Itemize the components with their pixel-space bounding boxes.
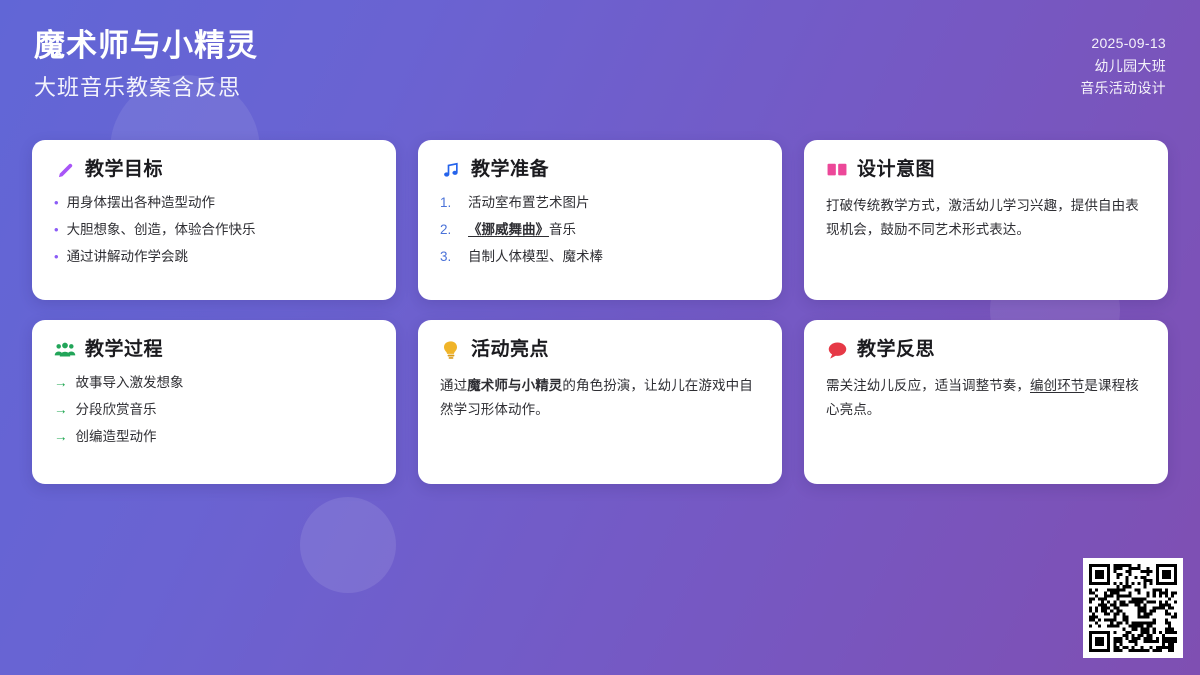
card-header: 教学目标: [54, 159, 374, 181]
bullet-marker: •: [54, 221, 59, 239]
card-title: 教学反思: [857, 340, 935, 361]
body-part-plain: 需关注幼儿反应，适当调整节奏，: [826, 378, 1030, 393]
card-header: 教学准备: [440, 159, 760, 181]
card-body-text: 需关注幼儿反应，适当调整节奏，编创环节是课程核心亮点。: [826, 374, 1146, 421]
card-header: 教学反思: [826, 339, 1146, 361]
list-item-label: 《挪威舞曲》音乐: [468, 221, 760, 239]
arrow-marker: →: [54, 401, 68, 419]
arrow-marker: →: [54, 428, 68, 446]
list-item-suffix: 音乐: [549, 222, 576, 237]
title-block: 魔术师与小精灵 大班音乐教案含反思: [34, 26, 258, 102]
list-item: • 大胆想象、创造，体验合作快乐: [54, 221, 374, 239]
card-teaching-process[interactable]: 教学过程 → 故事导入激发想象 → 分段欣赏音乐 → 创编造型动作: [32, 320, 396, 484]
list-item-label: 大胆想象、创造，体验合作快乐: [67, 221, 374, 239]
card-header: 设计意图: [826, 159, 1146, 181]
preparation-list: 1. 活动室布置艺术图片 2. 《挪威舞曲》音乐 3. 自制人体模型、魔术棒: [440, 194, 760, 267]
card-teaching-reflection[interactable]: 教学反思 需关注幼儿反应，适当调整节奏，编创环节是课程核心亮点。: [804, 320, 1168, 484]
body-part-underline: 编创环节: [1030, 378, 1084, 393]
body-part-bold: 魔术师与小精灵: [467, 378, 562, 393]
pencil-icon: [54, 159, 76, 181]
qr-code[interactable]: [1083, 558, 1183, 658]
card-activity-highlights[interactable]: 活动亮点 通过魔术师与小精灵的角色扮演，让幼儿在游戏中自然学习形体动作。: [418, 320, 782, 484]
card-body-text: 打破传统教学方式，激活幼儿学习兴趣，提供自由表现机会，鼓励不同艺术形式表达。: [826, 194, 1146, 241]
card-title: 设计意图: [857, 160, 935, 181]
card-body-text: 通过魔术师与小精灵的角色扮演，让幼儿在游戏中自然学习形体动作。: [440, 374, 760, 421]
qr-code-canvas: [1089, 564, 1177, 652]
process-list: → 故事导入激发想象 → 分段欣赏音乐 → 创编造型动作: [54, 374, 374, 447]
bullet-marker: •: [54, 194, 59, 212]
list-item: → 创编造型动作: [54, 428, 374, 446]
list-item-label: 分段欣赏音乐: [76, 401, 375, 419]
slide-header: 魔术师与小精灵 大班音乐教案含反思 2025-09-13 幼儿园大班 音乐活动设…: [0, 0, 1200, 128]
music-note-icon: [440, 159, 462, 181]
card-header: 教学过程: [54, 339, 374, 361]
card-title: 教学目标: [85, 160, 163, 181]
arrow-marker: →: [54, 374, 68, 392]
card-title: 活动亮点: [471, 340, 549, 361]
list-item: 2. 《挪威舞曲》音乐: [440, 221, 760, 239]
goals-list: • 用身体摆出各种造型动作 • 大胆想象、创造，体验合作快乐 • 通过讲解动作学…: [54, 194, 374, 267]
card-title: 教学准备: [471, 160, 549, 181]
open-book-icon: [826, 159, 848, 181]
slide-root: 魔术师与小精灵 大班音乐教案含反思 2025-09-13 幼儿园大班 音乐活动设…: [0, 0, 1200, 675]
list-item: → 分段欣赏音乐: [54, 401, 374, 419]
list-item-label: 通过讲解动作学会跳: [67, 248, 374, 266]
card-teaching-preparation[interactable]: 教学准备 1. 活动室布置艺术图片 2. 《挪威舞曲》音乐 3. 自制人体模型、…: [418, 140, 782, 300]
decorative-circle-bottom: [300, 497, 396, 593]
list-item-label: 自制人体模型、魔术棒: [468, 248, 760, 266]
card-title: 教学过程: [85, 340, 163, 361]
list-item: • 通过讲解动作学会跳: [54, 248, 374, 266]
list-item: 1. 活动室布置艺术图片: [440, 194, 760, 212]
list-item-label: 故事导入激发想象: [76, 374, 375, 392]
list-item: → 故事导入激发想象: [54, 374, 374, 392]
lightbulb-icon: [440, 339, 462, 361]
list-item-label: 活动室布置艺术图片: [468, 194, 760, 212]
meta-grade: 幼儿园大班: [1095, 55, 1167, 78]
list-item: 3. 自制人体模型、魔术棒: [440, 248, 760, 266]
meta-date: 2025-09-13: [1091, 32, 1166, 55]
speech-bubble-icon: [826, 339, 848, 361]
list-item-label: 创编造型动作: [76, 428, 375, 446]
list-item-label: 用身体摆出各种造型动作: [67, 194, 374, 212]
number-marker: 3.: [440, 248, 460, 266]
page-title: 魔术师与小精灵: [34, 26, 258, 66]
number-marker: 1.: [440, 194, 460, 212]
card-grid: 教学目标 • 用身体摆出各种造型动作 • 大胆想象、创造，体验合作快乐 • 通过…: [32, 140, 1168, 484]
card-design-intent[interactable]: 设计意图 打破传统教学方式，激活幼儿学习兴趣，提供自由表现机会，鼓励不同艺术形式…: [804, 140, 1168, 300]
page-subtitle: 大班音乐教案含反思: [34, 74, 258, 103]
meta-category: 音乐活动设计: [1080, 77, 1166, 100]
list-item: • 用身体摆出各种造型动作: [54, 194, 374, 212]
card-header: 活动亮点: [440, 339, 760, 361]
body-part-plain: 通过: [440, 378, 467, 393]
number-marker: 2.: [440, 221, 460, 239]
emphasis-text: 《挪威舞曲》: [468, 222, 549, 237]
bullet-marker: •: [54, 248, 59, 266]
people-group-icon: [54, 339, 76, 361]
header-meta: 2025-09-13 幼儿园大班 音乐活动设计: [1080, 26, 1166, 100]
card-teaching-goals[interactable]: 教学目标 • 用身体摆出各种造型动作 • 大胆想象、创造，体验合作快乐 • 通过…: [32, 140, 396, 300]
